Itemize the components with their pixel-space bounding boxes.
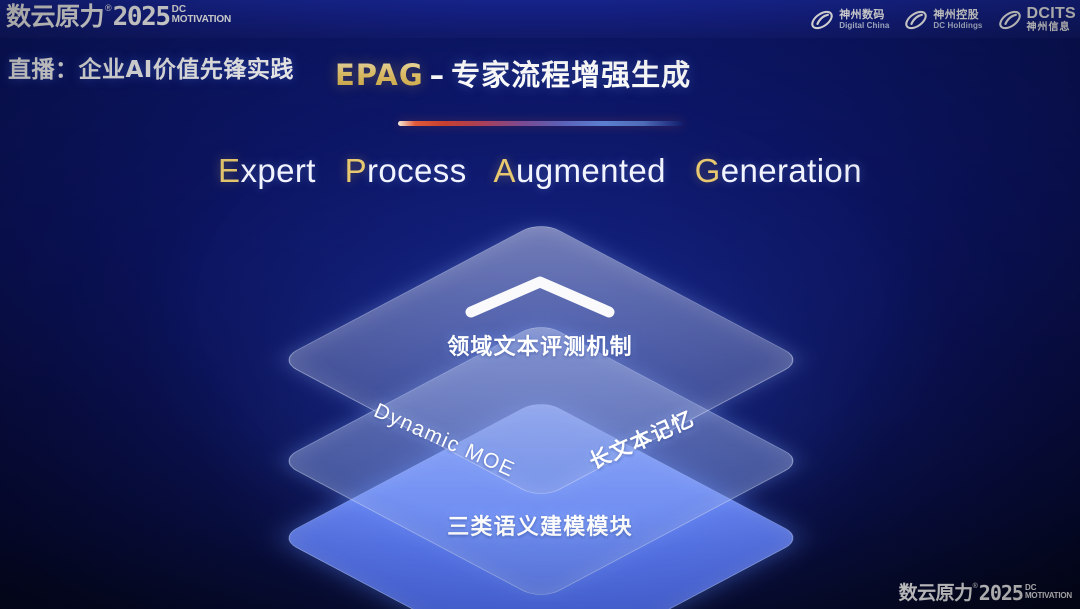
partner-label: 神州控股 DC Holdings <box>933 8 982 31</box>
page-title: EPAG–专家流程增强生成 <box>335 52 691 94</box>
layer-label-top: 领域文本评测机制 <box>0 329 1080 361</box>
watermark-dc-motivation: DC MOTIVATION <box>1025 584 1072 600</box>
brand-dc-label: DC <box>172 5 231 14</box>
diagram-layer-top <box>278 221 804 500</box>
live-stream-label: 直播：企业AI价值先锋实践 <box>8 50 294 84</box>
subtitle-word-augmented: Augmented <box>494 152 666 189</box>
diagram-layer-bottom <box>278 399 804 609</box>
watermark-brand-cn: 数云原力 <box>899 582 973 605</box>
diagram-layer-middle <box>278 322 804 601</box>
watermark-registered-mark: ® <box>973 582 978 591</box>
subtitle-word-generation: Generation <box>695 152 862 189</box>
partner-name-en: Digital China <box>839 21 889 31</box>
watermark-dc-label: DC <box>1025 584 1072 591</box>
brand-logo: 数云原力 ® 2025 DC MOTIVATION <box>6 2 231 36</box>
title-dash: – <box>430 58 446 92</box>
subtitle: Expert Process Augmented Generation <box>0 152 1080 190</box>
watermark-year: 2025 <box>979 582 1023 605</box>
brand-name-cn: 数云原力 <box>6 2 104 32</box>
partner-logo-dc-holdings: 神州控股 DC Holdings <box>903 7 982 33</box>
partner-name-cn: 神州数码 <box>839 8 889 21</box>
partner-name-en: DC Holdings <box>933 21 982 31</box>
presentation-slide: 数云原力 ® 2025 DC MOTIVATION 神州数码 Digital C… <box>0 0 1080 609</box>
chevron-up-icon <box>463 272 617 320</box>
swirl-icon <box>809 7 835 33</box>
layer-label-dynamic-moe: Dynamic MOE <box>370 399 518 483</box>
brand-dc-motivation: DC MOTIVATION <box>172 5 231 25</box>
layer-label-bottom: 三类语义建模模块 <box>0 509 1080 541</box>
partner-name-en: DCITS <box>1027 5 1077 22</box>
stack-glow <box>330 455 750 585</box>
swirl-icon <box>903 7 929 33</box>
partner-name-cn: 神州控股 <box>933 8 982 21</box>
watermark-motivation-label: MOTIVATION <box>1025 591 1072 600</box>
footer-watermark-logo: 数云原力 ® 2025 DC MOTIVATION <box>899 582 1072 605</box>
subtitle-word-expert: Expert <box>218 152 316 189</box>
partner-label: DCITS 神州信息 <box>1027 5 1077 34</box>
title-divider <box>398 121 683 126</box>
layer-label-long-text-memory: 长文本记忆 <box>584 403 699 476</box>
partner-logo-digital-china: 神州数码 Digital China <box>809 7 889 33</box>
space <box>476 152 486 189</box>
partner-logo-dcits: DCITS 神州信息 <box>997 5 1077 34</box>
brand-year: 2025 <box>113 2 170 32</box>
space <box>325 152 335 189</box>
swirl-icon <box>997 7 1023 33</box>
title-chinese: 专家流程增强生成 <box>451 58 691 92</box>
header-bar: 数云原力 ® 2025 DC MOTIVATION 神州数码 Digital C… <box>0 0 1080 38</box>
brand-motivation-label: MOTIVATION <box>172 14 231 25</box>
partner-name-cn: 神州信息 <box>1027 22 1077 34</box>
partner-label: 神州数码 Digital China <box>839 8 889 31</box>
registered-mark: ® <box>105 2 112 14</box>
partner-logos: 神州数码 Digital China 神州控股 DC Holdings <box>809 5 1076 34</box>
title-acronym: EPAG <box>335 58 424 92</box>
space <box>676 152 686 189</box>
subtitle-word-process: Process <box>345 152 467 189</box>
